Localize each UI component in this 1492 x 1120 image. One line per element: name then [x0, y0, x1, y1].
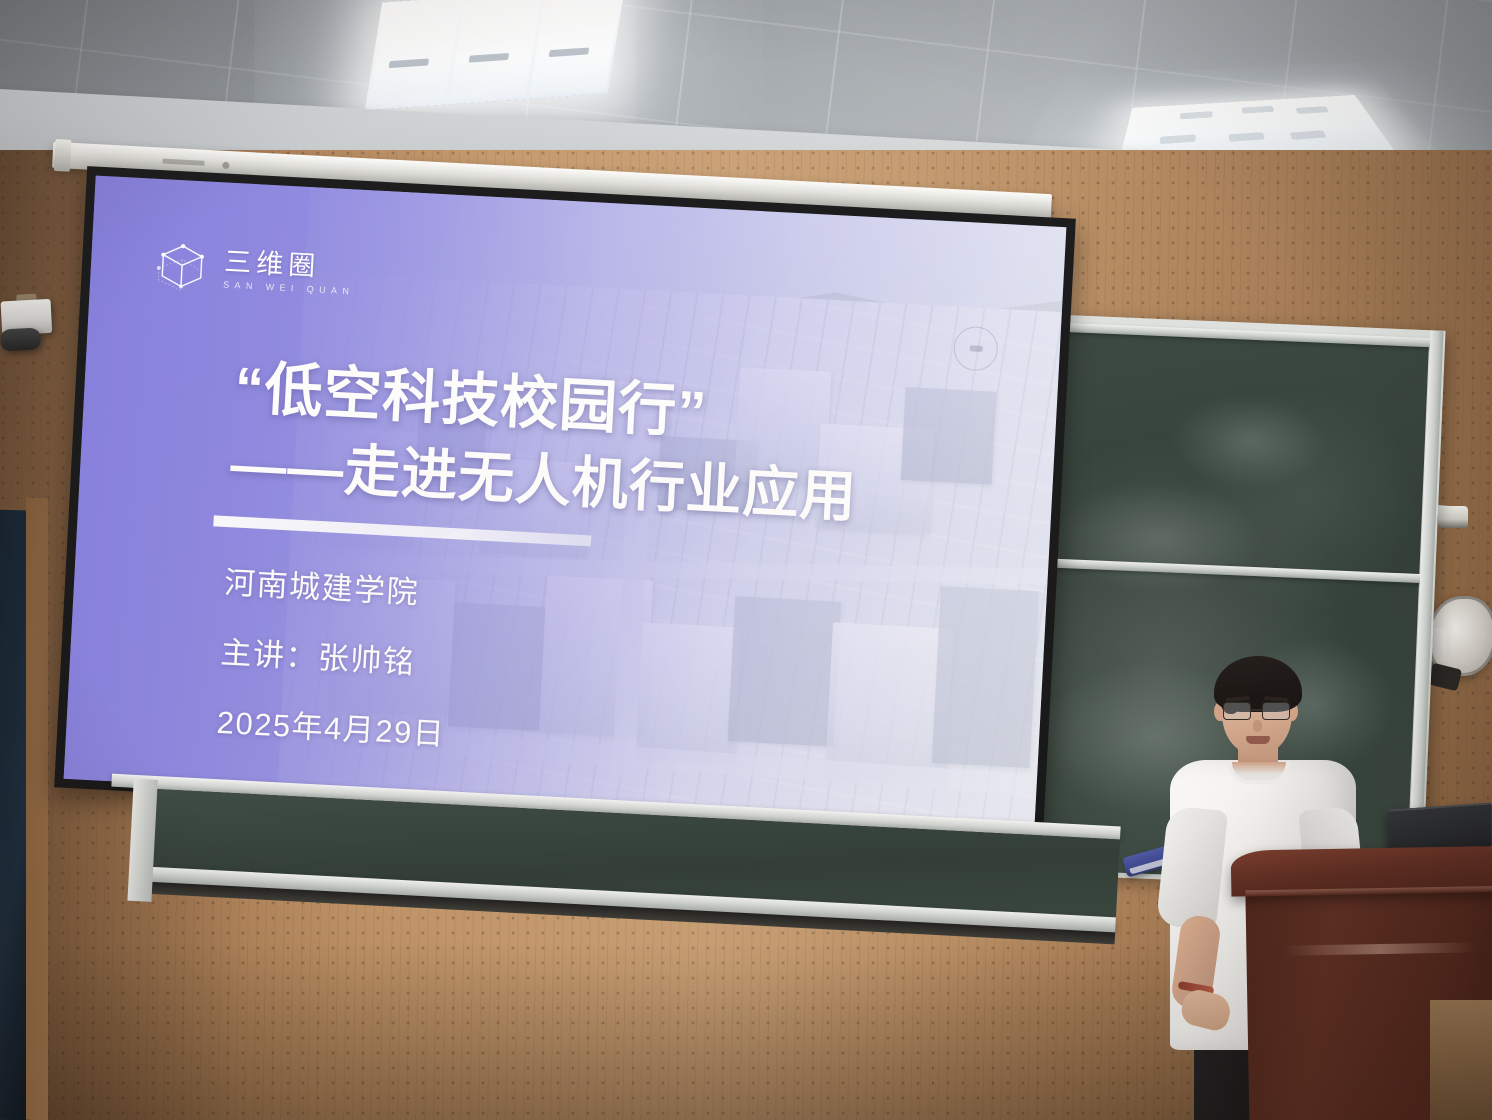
door-jamb	[26, 498, 48, 1120]
slide-meta-speaker: 主讲：张帅铭	[220, 627, 849, 705]
lecture-hall-scene: 三维圈 SAN WEI QUAN “低空科技校园行” ——走进无人机行业应用 河…	[0, 0, 1492, 1120]
slide-meta-institution: 河南城建学院	[223, 557, 852, 635]
screen-housing-screw	[222, 162, 229, 169]
logo-chinese-text: 三维圈	[224, 247, 357, 282]
presenter-nose	[1253, 720, 1262, 732]
slide-text-block: “低空科技校园行” ——走进无人机行业应用 河南城建学院 主讲：张帅铭 2025…	[214, 358, 862, 799]
glasses-icon	[1222, 702, 1294, 721]
slide-divider	[213, 515, 591, 546]
doorway-left[interactable]	[0, 510, 28, 1120]
slide-subtitle: ——走进无人机行业应用	[229, 435, 858, 527]
slide-logo: 三维圈 SAN WEI QUAN	[152, 239, 357, 302]
wireframe-cube-icon	[152, 239, 213, 294]
floor	[1430, 1000, 1492, 1120]
presenter-sleeve-left	[1156, 805, 1228, 931]
screen-housing-endcap	[54, 139, 72, 172]
screen-housing-label	[162, 159, 204, 166]
wall-projector-icon	[1, 299, 60, 360]
slide-meta-date: 2025年4月29日	[216, 697, 845, 775]
presenter-mouth	[1246, 736, 1270, 744]
logo-english-text: SAN WEI QUAN	[223, 280, 355, 297]
light-cell	[449, 0, 542, 102]
ceiling-light-left	[365, 0, 626, 110]
projection-screen[interactable]: 三维圈 SAN WEI QUAN “低空科技校园行” ——走进无人机行业应用 河…	[54, 166, 1076, 840]
projected-slide: 三维圈 SAN WEI QUAN “低空科技校园行” ——走进无人机行业应用 河…	[64, 176, 1067, 831]
light-cell	[529, 0, 622, 96]
light-cell	[368, 0, 461, 107]
slide-meta-block: 河南城建学院 主讲：张帅铭 2025年4月29日	[216, 557, 852, 775]
